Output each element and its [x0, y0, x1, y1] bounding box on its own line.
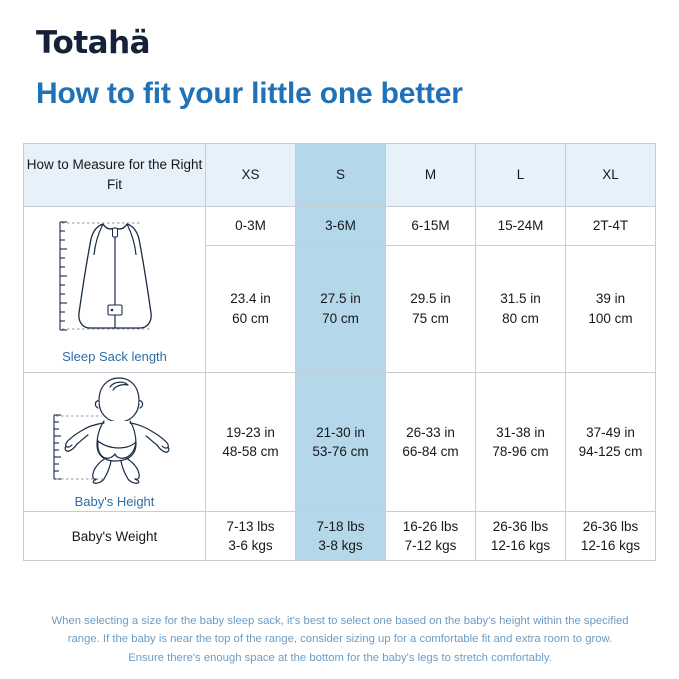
weight-lbs-m: 16-26 lbs — [386, 517, 475, 537]
table-row-age: Sleep Sack length 0-3M 3-6M 6-15M 15-24M… — [24, 207, 656, 246]
weight-kgs-m: 7-12 kgs — [386, 536, 475, 556]
age-value-l: 15-24M — [476, 207, 566, 246]
length-value-m: 29.5 in 75 cm — [386, 246, 476, 373]
size-chart-table: How to Measure for the Right Fit XS S M … — [23, 143, 656, 561]
weight-lbs-xs: 7-13 lbs — [206, 517, 295, 537]
size-chart-page: Totahä How to fit your little one better… — [0, 0, 679, 679]
length-cm-xl: 100 cm — [566, 309, 655, 329]
height-in-xs: 19-23 in — [206, 423, 295, 443]
length-in-xl: 39 in — [566, 289, 655, 309]
height-cm-xl: 94-125 cm — [566, 442, 655, 462]
sleep-sack-caption: Sleep Sack length — [62, 348, 167, 367]
height-value-l: 31-38 in 78-96 cm — [476, 373, 566, 512]
height-value-m: 26-33 in 66-84 cm — [386, 373, 476, 512]
size-header-s[interactable]: S — [296, 144, 386, 207]
weight-kgs-l: 12-16 kgs — [476, 536, 565, 556]
footer-line-2: range. If the baby is near the top of th… — [24, 630, 656, 648]
table-header-row: How to Measure for the Right Fit XS S M … — [24, 144, 656, 207]
size-header-xl[interactable]: XL — [566, 144, 656, 207]
age-value-s: 3-6M — [296, 207, 386, 246]
baby-height-label-cell: Baby's Height — [24, 373, 206, 512]
footer-line-3: Ensure there's enough space at the botto… — [24, 649, 656, 667]
height-cm-s: 53-76 cm — [296, 442, 385, 462]
table-row-baby-weight: Baby's Weight 7-13 lbs 3-6 kgs 7-18 lbs … — [24, 512, 656, 561]
footer-line-1: When selecting a size for the baby sleep… — [24, 612, 656, 630]
size-header-m[interactable]: M — [386, 144, 476, 207]
weight-kgs-xl: 12-16 kgs — [566, 536, 655, 556]
corner-header: How to Measure for the Right Fit — [24, 144, 206, 207]
baby-weight-label: Baby's Weight — [24, 512, 206, 561]
weight-value-m: 16-26 lbs 7-12 kgs — [386, 512, 476, 561]
age-value-xs: 0-3M — [206, 207, 296, 246]
length-in-s: 27.5 in — [296, 289, 385, 309]
length-value-xs: 23.4 in 60 cm — [206, 246, 296, 373]
height-cm-m: 66-84 cm — [386, 442, 475, 462]
height-in-xl: 37-49 in — [566, 423, 655, 443]
height-cm-xs: 48-58 cm — [206, 442, 295, 462]
weight-kgs-s: 3-8 kgs — [296, 536, 385, 556]
length-cm-m: 75 cm — [386, 309, 475, 329]
weight-value-xl: 26-36 lbs 12-16 kgs — [566, 512, 656, 561]
sleep-sack-illustration — [40, 212, 190, 346]
age-value-m: 6-15M — [386, 207, 476, 246]
size-header-l[interactable]: L — [476, 144, 566, 207]
height-in-s: 21-30 in — [296, 423, 385, 443]
length-value-s: 27.5 in 70 cm — [296, 246, 386, 373]
sleep-sack-label-cell: Sleep Sack length — [24, 207, 206, 373]
length-in-xs: 23.4 in — [206, 289, 295, 309]
weight-lbs-l: 26-36 lbs — [476, 517, 565, 537]
baby-height-caption: Baby's Height — [75, 493, 155, 512]
length-in-l: 31.5 in — [476, 289, 565, 309]
footer-disclaimer: When selecting a size for the baby sleep… — [24, 612, 656, 667]
length-value-l: 31.5 in 80 cm — [476, 246, 566, 373]
height-value-xs: 19-23 in 48-58 cm — [206, 373, 296, 512]
weight-value-xs: 7-13 lbs 3-6 kgs — [206, 512, 296, 561]
length-cm-s: 70 cm — [296, 309, 385, 329]
baby-illustration — [40, 373, 190, 491]
weight-value-l: 26-36 lbs 12-16 kgs — [476, 512, 566, 561]
height-in-m: 26-33 in — [386, 423, 475, 443]
length-in-m: 29.5 in — [386, 289, 475, 309]
weight-value-s: 7-18 lbs 3-8 kgs — [296, 512, 386, 561]
height-cm-l: 78-96 cm — [476, 442, 565, 462]
age-value-xl: 2T-4T — [566, 207, 656, 246]
weight-kgs-xs: 3-6 kgs — [206, 536, 295, 556]
weight-lbs-s: 7-18 lbs — [296, 517, 385, 537]
page-title: How to fit your little one better — [36, 76, 463, 112]
brand-logo: Totahä — [36, 28, 150, 59]
table-row-baby-height: Baby's Height 19-23 in 48-58 cm 21-30 in… — [24, 373, 656, 512]
length-cm-l: 80 cm — [476, 309, 565, 329]
height-value-s: 21-30 in 53-76 cm — [296, 373, 386, 512]
height-value-xl: 37-49 in 94-125 cm — [566, 373, 656, 512]
length-cm-xs: 60 cm — [206, 309, 295, 329]
size-header-xs[interactable]: XS — [206, 144, 296, 207]
length-value-xl: 39 in 100 cm — [566, 246, 656, 373]
weight-lbs-xl: 26-36 lbs — [566, 517, 655, 537]
height-in-l: 31-38 in — [476, 423, 565, 443]
